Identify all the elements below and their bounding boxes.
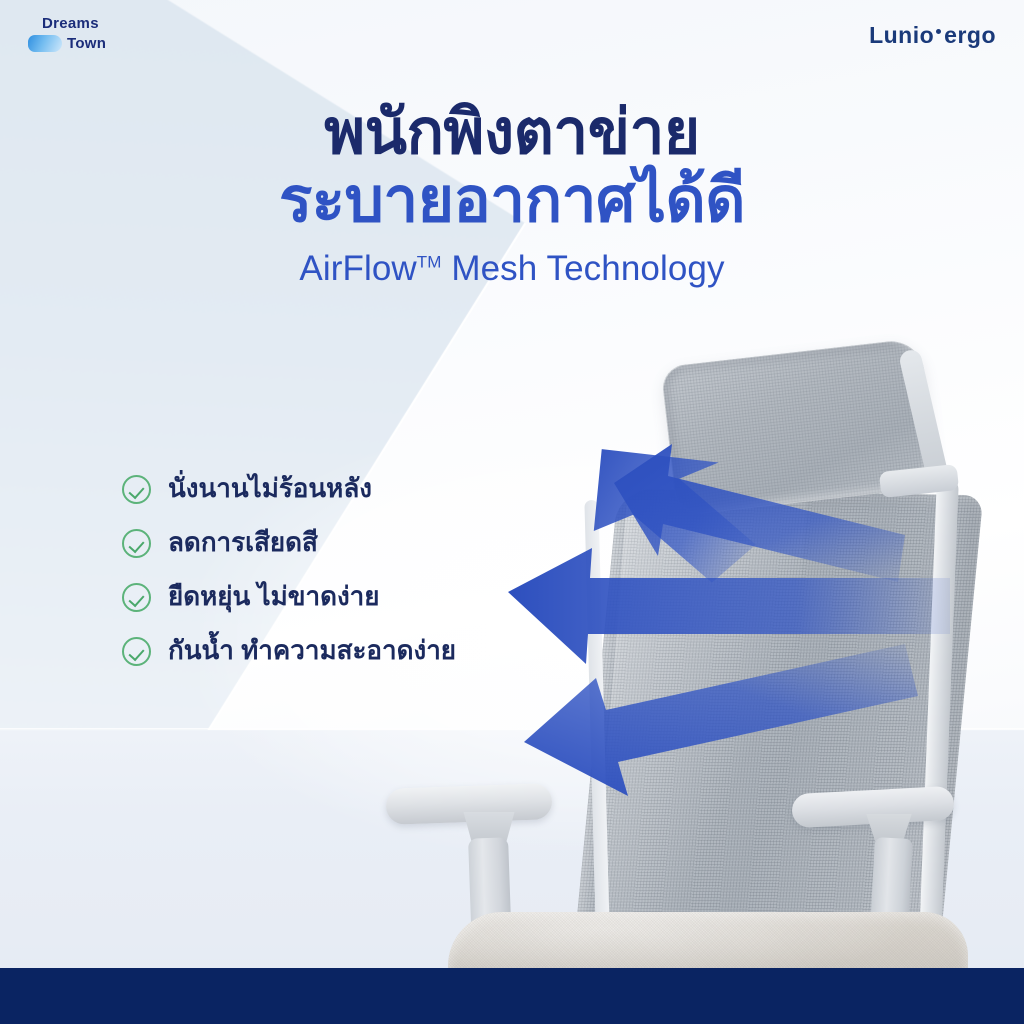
bottom-bar [0, 968, 1024, 1024]
airflow-arrow-down [524, 644, 918, 796]
airflow-arrow-group [0, 0, 1024, 1024]
promo-poster: Dreams Town Lunio ergo พนักพิงตาข่าย ระบ… [0, 0, 1024, 1024]
